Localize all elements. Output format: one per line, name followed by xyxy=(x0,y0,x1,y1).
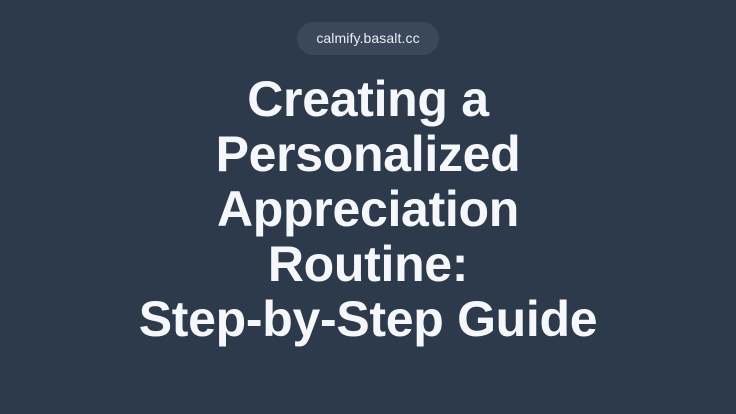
page-title-line-4: Routine: xyxy=(268,237,468,292)
page-title-line-2: Personalized xyxy=(216,127,521,182)
site-domain-badge: calmify.basalt.cc xyxy=(297,22,438,55)
page-title-line-3: Appreciation xyxy=(217,182,519,237)
page-title-line-5: Step-by-Step Guide xyxy=(139,292,598,347)
page-title-line-1: Creating a xyxy=(247,72,489,127)
site-domain-label: calmify.basalt.cc xyxy=(316,22,419,55)
page-title: Creating a Personalized Appreciation Rou… xyxy=(0,72,736,347)
title-card: calmify.basalt.cc Creating a Personalize… xyxy=(0,0,736,414)
